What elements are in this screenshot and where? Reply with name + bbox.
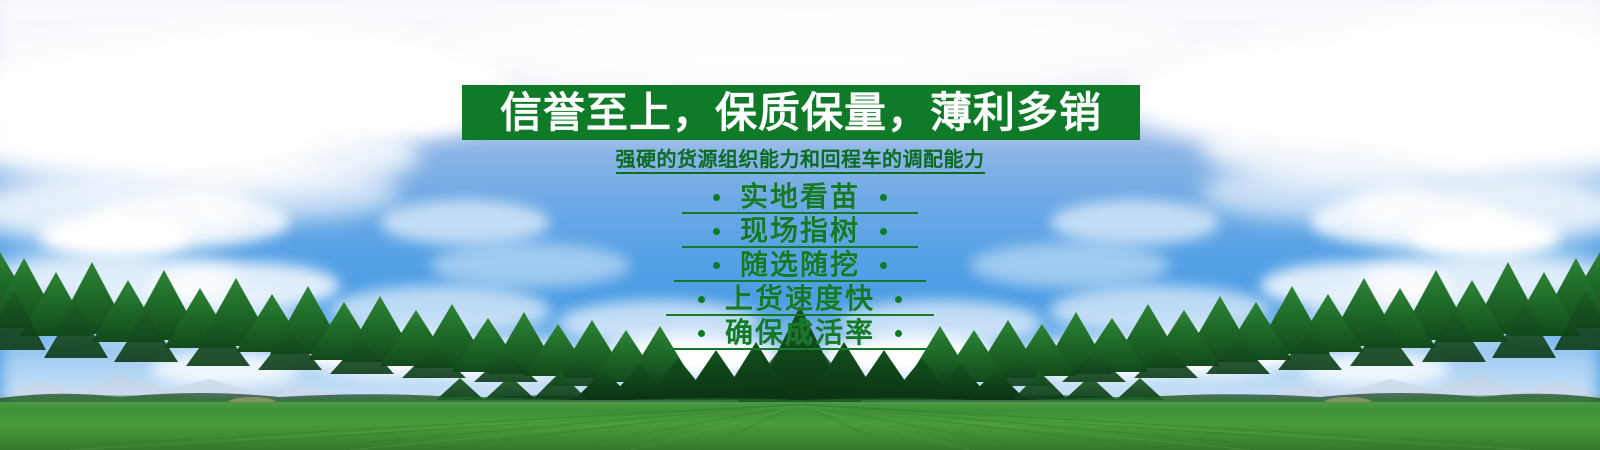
feature-item: 确保成活率 — [0, 316, 1600, 350]
promo-banner: 信誉至上，保质保量，薄利多销 强硬的货源组织能力和回程车的调配能力 实地看苗 现… — [0, 0, 1600, 450]
bullet-dot-icon — [713, 262, 720, 269]
bullet-dot-icon — [895, 296, 902, 303]
text-overlay: 信誉至上，保质保量，薄利多销 强硬的货源组织能力和回程车的调配能力 实地看苗 现… — [0, 0, 1600, 450]
feature-item: 实地看苗 — [0, 180, 1600, 214]
bullet-dot-icon — [895, 330, 902, 337]
bullet-dot-icon — [713, 228, 720, 235]
bullet-dot-icon — [713, 194, 720, 201]
feature-label: 现场指树 — [740, 217, 860, 245]
bullet-dot-icon — [880, 194, 887, 201]
bullet-dot-icon — [698, 330, 705, 337]
feature-item: 随选随挖 — [0, 248, 1600, 282]
feature-item: 现场指树 — [0, 214, 1600, 248]
feature-list: 实地看苗 现场指树 随选随挖 — [0, 180, 1600, 350]
bullet-dot-icon — [880, 228, 887, 235]
feature-divider — [666, 348, 934, 350]
bullet-dot-icon — [880, 262, 887, 269]
feature-label: 上货速度快 — [725, 285, 875, 313]
subheadline: 强硬的货源组织能力和回程车的调配能力 — [0, 148, 1600, 174]
feature-label: 实地看苗 — [740, 183, 860, 211]
feature-label: 随选随挖 — [740, 251, 860, 279]
headline-banner: 信誉至上，保质保量，薄利多销 — [462, 85, 1140, 140]
feature-label: 确保成活率 — [725, 319, 875, 347]
headline-text: 信誉至上，保质保量，薄利多销 — [500, 92, 1102, 134]
subheadline-text: 强硬的货源组织能力和回程车的调配能力 — [616, 148, 985, 174]
feature-item: 上货速度快 — [0, 282, 1600, 316]
bullet-dot-icon — [698, 296, 705, 303]
